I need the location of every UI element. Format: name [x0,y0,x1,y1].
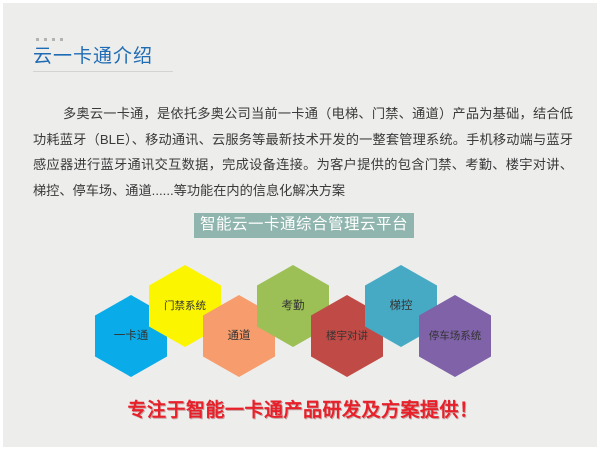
title-underline-divider [33,71,173,72]
hexagon-label: 楼宇对讲 [326,329,368,343]
slide-canvas: 云一卡通介绍 多奥云一卡通，是依托多奥公司当前一卡通（电梯、门禁、通道）产品为基… [0,0,600,450]
hexagon-label: 一卡通 [114,329,149,343]
dot-icon [60,38,63,41]
dot-icon [52,38,55,41]
dot-icon [44,38,47,41]
hexagon-label: 停车场系统 [429,329,482,343]
title-decoration-dots [36,38,363,41]
page-title: 云一卡通介绍 [33,45,363,69]
body-paragraph: 多奥云一卡通，是依托多奥公司当前一卡通（电梯、门禁、通道）产品为基础，结合低功耗… [33,101,573,203]
dot-icon [36,38,39,41]
hexagon-diagram: 一卡通门禁系统通道考勤楼宇对讲梯控停车场系统 [3,261,600,381]
platform-banner: 智能云一卡通综合管理云平台 [194,213,414,238]
footer-slogan: 专注于智能一卡通产品研发及方案提供！ [3,395,600,422]
hexagon-label: 梯控 [390,299,413,313]
hexagon-label: 考勤 [282,299,305,313]
hexagon-label: 门禁系统 [164,299,206,313]
title-block: 云一卡通介绍 [33,38,363,72]
hexagon-label: 通道 [228,329,251,343]
